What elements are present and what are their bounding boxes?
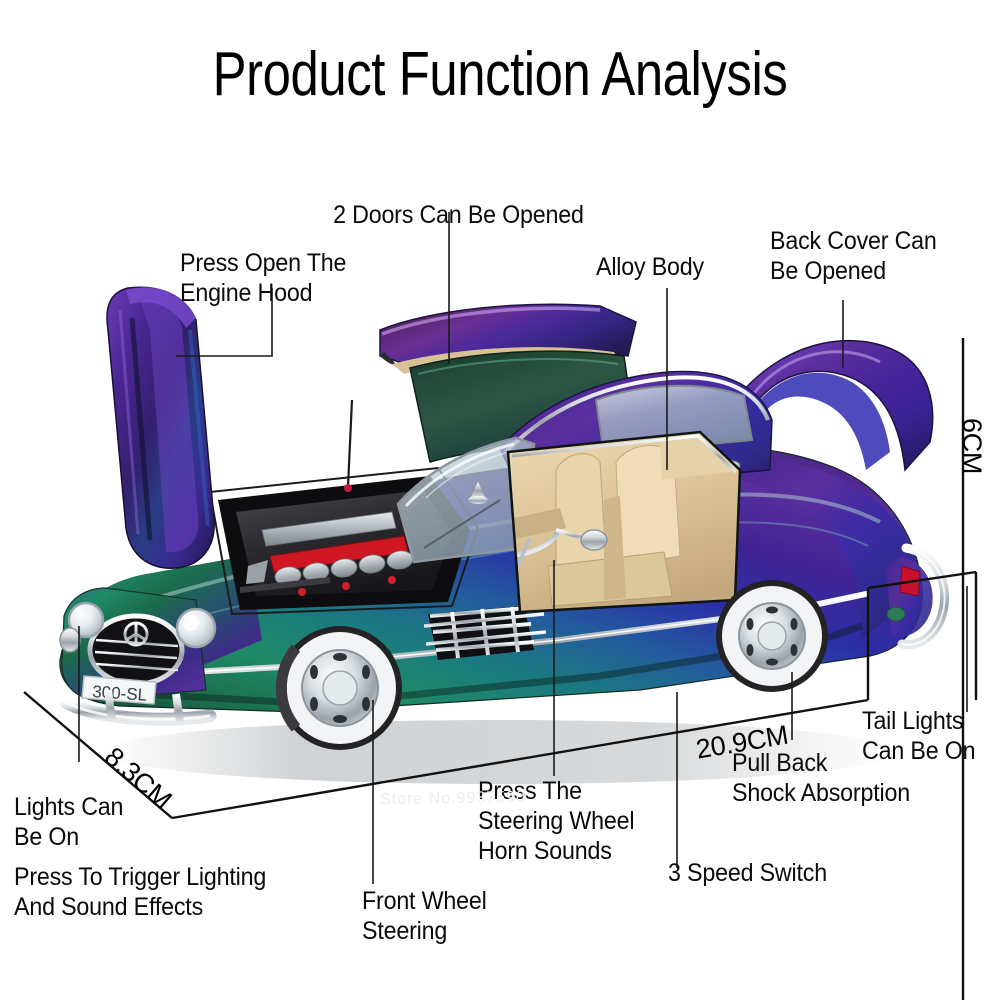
interior <box>497 425 750 625</box>
callout-tail-lights: Tail Lights Can Be On <box>862 706 975 766</box>
engine-bay <box>210 468 478 614</box>
dimension-height: 6CM <box>958 418 986 474</box>
back-cover-open <box>742 341 933 470</box>
front-wheel <box>278 626 402 750</box>
gullwing-door-near <box>560 366 728 442</box>
page-title: Product Function Analysis <box>90 44 910 106</box>
antenna <box>348 400 352 486</box>
front-grille: 300-SL <box>60 588 215 722</box>
rear-wheel <box>716 580 828 692</box>
infographic-canvas: Product Function Analysis <box>0 0 1000 1000</box>
engine-hood-open <box>107 287 214 568</box>
tail-lights <box>886 548 945 645</box>
gullwing-door-far <box>380 304 638 462</box>
svg-text:300-SL: 300-SL <box>92 682 148 705</box>
callout-two-doors-text: 2 Doors Can Be Opened <box>333 200 584 230</box>
license-plate: 300-SL <box>82 676 156 705</box>
callout-engine-hood: Press Open The Engine Hood <box>180 248 346 308</box>
callout-back-cover: Back Cover Can Be Opened <box>770 226 937 286</box>
store-watermark: Store No.9937590 <box>380 789 526 810</box>
callout-lights-on: Lights Can Be On <box>14 792 123 852</box>
car-body <box>60 446 922 712</box>
cabin <box>500 371 772 492</box>
callout-front-wheel: Front Wheel Steering <box>362 886 487 946</box>
hood-ornament <box>468 480 488 504</box>
callout-two-doors: 2 Doors Can Be Opened <box>458 170 709 230</box>
side-vent <box>424 606 546 660</box>
callout-trigger-lighting: Press To Trigger Lighting And Sound Effe… <box>14 862 266 922</box>
windshield <box>398 438 534 562</box>
side-mirror <box>556 530 607 550</box>
callout-speed-switch: 3 Speed Switch <box>668 858 827 888</box>
callout-alloy-body: Alloy Body <box>596 252 704 282</box>
